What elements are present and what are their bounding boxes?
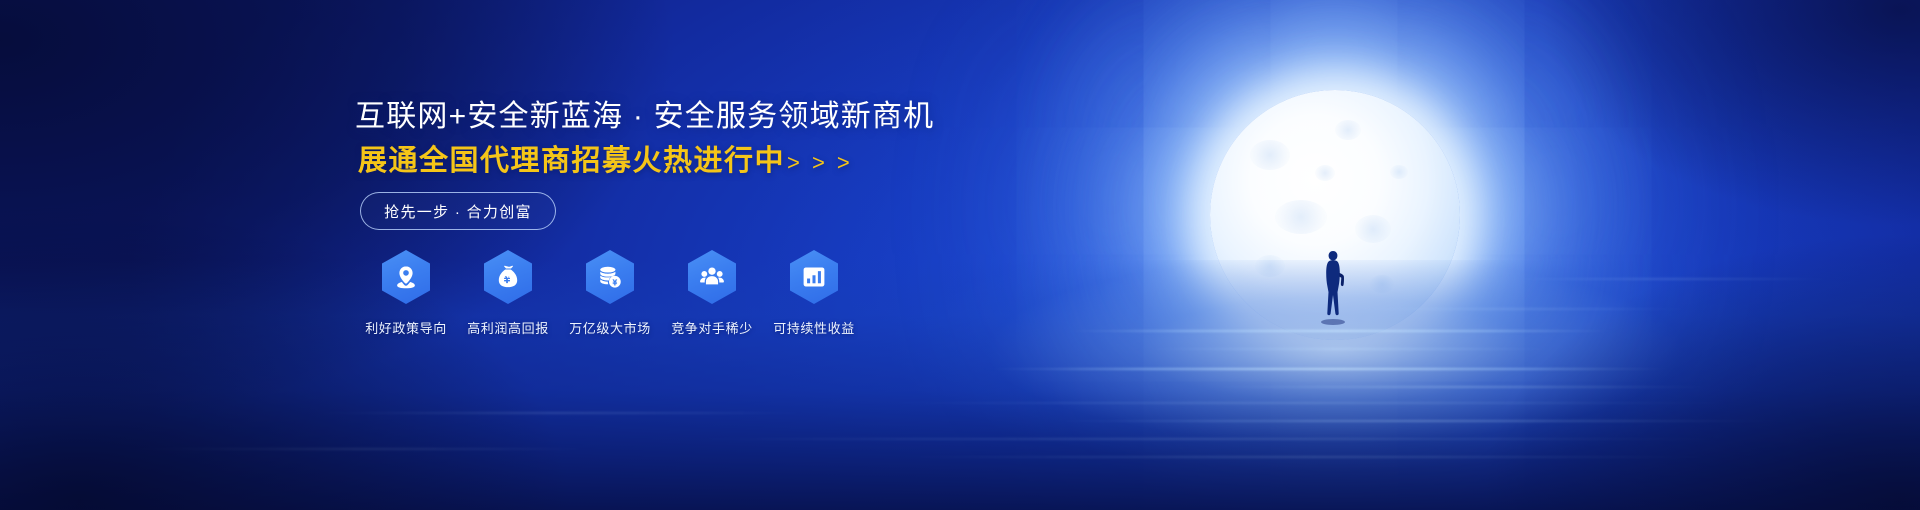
water-surface [0, 260, 1920, 510]
subheadline-arrows-icon: > > > [787, 150, 853, 175]
feature-icon-hex [688, 250, 736, 304]
banner-subheadline: 展通全国代理商招募火热进行中> > > [358, 143, 853, 179]
location-pin-icon [393, 264, 419, 290]
feature-label: 利好政策导向 [365, 318, 447, 337]
cta-pill-label: 抢先一步 · 合力创富 [384, 201, 532, 222]
feature-list: 利好政策导向 高利润高回报 [355, 250, 865, 337]
background-vignette [0, 0, 1920, 510]
feature-icon-hex [586, 250, 634, 304]
banner-content: 互联网+安全新蓝海 · 安全服务领域新商机 展通全国代理商招募火热进行中> > … [355, 0, 875, 510]
people-group-icon [699, 264, 725, 290]
feature-item-policy[interactable]: 利好政策导向 [355, 250, 457, 337]
feature-label: 可持续性收益 [773, 318, 855, 337]
feature-item-profit[interactable]: 高利润高回报 [457, 250, 559, 337]
feature-label: 万亿级大市场 [569, 318, 651, 337]
cta-pill-button[interactable]: 抢先一步 · 合力创富 [360, 192, 556, 230]
feature-label: 竞争对手稀少 [671, 318, 753, 337]
person-silhouette-icon [1318, 247, 1348, 325]
feature-item-market[interactable]: 万亿级大市场 [559, 250, 661, 337]
subheadline-text: 展通全国代理商招募火热进行中 [358, 145, 785, 177]
feature-icon-hex [790, 250, 838, 304]
banner-headline: 互联网+安全新蓝海 · 安全服务领域新商机 [355, 98, 934, 136]
coin-stack-yuan-icon [597, 264, 623, 290]
feature-label: 高利润高回报 [467, 318, 549, 337]
feature-icon-hex [484, 250, 532, 304]
bar-chart-growth-icon [801, 264, 827, 290]
money-bag-yuan-icon [495, 264, 521, 290]
feature-item-competition[interactable]: 竞争对手稀少 [661, 250, 763, 337]
feature-icon-hex [382, 250, 430, 304]
feature-item-sustainable[interactable]: 可持续性收益 [763, 250, 865, 337]
promotional-banner: 互联网+安全新蓝海 · 安全服务领域新商机 展通全国代理商招募火热进行中> > … [0, 0, 1920, 510]
